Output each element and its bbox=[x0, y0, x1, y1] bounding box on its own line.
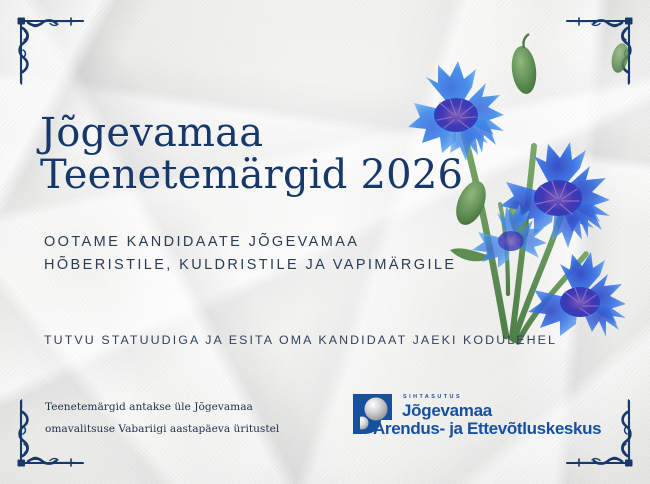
footnote-text: Teenetemärgid antakse üle Jõgevamaa omav… bbox=[45, 397, 335, 440]
logo-eyebrow-label: SIHTASUTUS bbox=[403, 395, 601, 400]
logo-line-two: Arendus- ja Ettevõtluskeskus bbox=[373, 420, 601, 438]
organisation-logo[interactable]: SIHTASUTUS Jõgevamaa Arendus- ja Ettevõt… bbox=[351, 392, 601, 438]
logo-wordmark: SIHTASUTUS Jõgevamaa Arendus- ja Ettevõt… bbox=[401, 392, 601, 438]
poster-canvas: Jõgevamaa Teenetemärgid 2026 OOTAME KAND… bbox=[0, 0, 650, 484]
poster-subtitle: OOTAME KANDIDAATE JÕGEVAMAA HÕBERISTILE,… bbox=[44, 231, 456, 278]
corner-ornament-top-left-icon bbox=[14, 14, 86, 86]
logo-line-one: Jõgevamaa bbox=[402, 402, 601, 419]
corner-ornament-top-right-icon bbox=[564, 14, 636, 86]
page-title: Jõgevamaa Teenetemärgid 2026 bbox=[40, 112, 463, 196]
call-to-action-text: TUTVU STATUUDIGA JA ESITA OMA KANDIDAAT … bbox=[44, 333, 557, 347]
